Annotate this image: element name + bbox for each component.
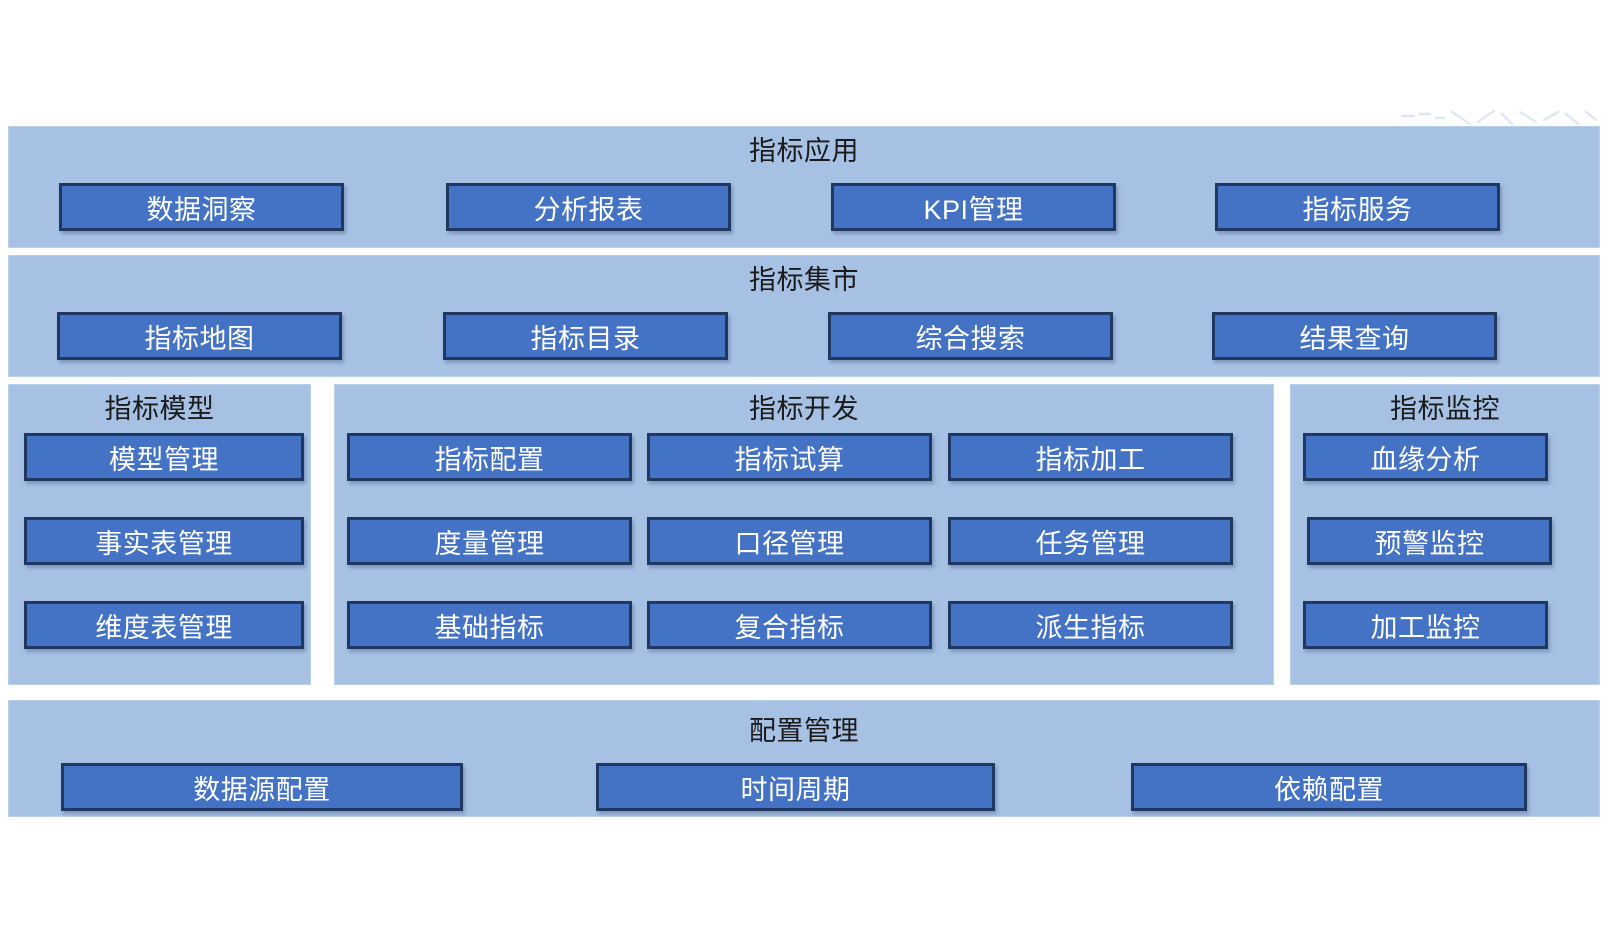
button-indicator-trial-calculation[interactable]: 指标试算	[647, 433, 932, 481]
button-comprehensive-search[interactable]: 综合搜索	[828, 312, 1113, 360]
button-result-query[interactable]: 结果查询	[1212, 312, 1497, 360]
button-data-insight[interactable]: 数据洞察	[59, 183, 344, 231]
panel-title-indicator-monitoring: 指标监控	[1291, 393, 1599, 425]
button-derived-indicator[interactable]: 派生指标	[948, 601, 1233, 649]
architecture-diagram: 指标应用 数据洞察 分析报表 KPI管理 指标服务 指标集市 指标地图 指标目录…	[0, 0, 1608, 940]
panel-indicator-mart: 指标集市 指标地图 指标目录 综合搜索 结果查询	[8, 255, 1600, 377]
button-dimension-table-management[interactable]: 维度表管理	[24, 601, 304, 649]
panel-title-configuration-management: 配置管理	[9, 715, 1599, 747]
panel-title-indicator-application: 指标应用	[9, 135, 1599, 167]
button-caliber-management[interactable]: 口径管理	[647, 517, 932, 565]
button-task-management[interactable]: 任务管理	[948, 517, 1233, 565]
button-indicator-map[interactable]: 指标地图	[57, 312, 342, 360]
button-model-management[interactable]: 模型管理	[24, 433, 304, 481]
button-indicator-service[interactable]: 指标服务	[1215, 183, 1500, 231]
panel-title-indicator-mart: 指标集市	[9, 264, 1599, 296]
button-composite-indicator[interactable]: 复合指标	[647, 601, 932, 649]
button-processing-monitoring[interactable]: 加工监控	[1303, 601, 1548, 649]
panel-title-indicator-model: 指标模型	[9, 393, 310, 425]
panel-indicator-model: 指标模型 模型管理 事实表管理 维度表管理	[8, 384, 311, 685]
button-indicator-catalog[interactable]: 指标目录	[443, 312, 728, 360]
button-time-period[interactable]: 时间周期	[596, 763, 995, 811]
panel-indicator-development: 指标开发 指标配置 指标试算 指标加工 度量管理 口径管理 任务管理 基础指标 …	[334, 384, 1274, 685]
button-kpi-management[interactable]: KPI管理	[831, 183, 1116, 231]
button-datasource-configuration[interactable]: 数据源配置	[61, 763, 463, 811]
button-dependency-configuration[interactable]: 依赖配置	[1131, 763, 1527, 811]
button-indicator-processing[interactable]: 指标加工	[948, 433, 1233, 481]
button-basic-indicator[interactable]: 基础指标	[347, 601, 632, 649]
panel-configuration-management: 配置管理 数据源配置 时间周期 依赖配置	[8, 700, 1600, 817]
button-indicator-configuration[interactable]: 指标配置	[347, 433, 632, 481]
button-measure-management[interactable]: 度量管理	[347, 517, 632, 565]
panel-indicator-monitoring: 指标监控 血缘分析 预警监控 加工监控	[1290, 384, 1600, 685]
button-analysis-report[interactable]: 分析报表	[446, 183, 731, 231]
button-alert-monitoring[interactable]: 预警监控	[1307, 517, 1552, 565]
panel-indicator-application: 指标应用 数据洞察 分析报表 KPI管理 指标服务	[8, 126, 1600, 248]
button-lineage-analysis[interactable]: 血缘分析	[1303, 433, 1548, 481]
panel-title-indicator-development: 指标开发	[335, 393, 1273, 425]
button-fact-table-management[interactable]: 事实表管理	[24, 517, 304, 565]
